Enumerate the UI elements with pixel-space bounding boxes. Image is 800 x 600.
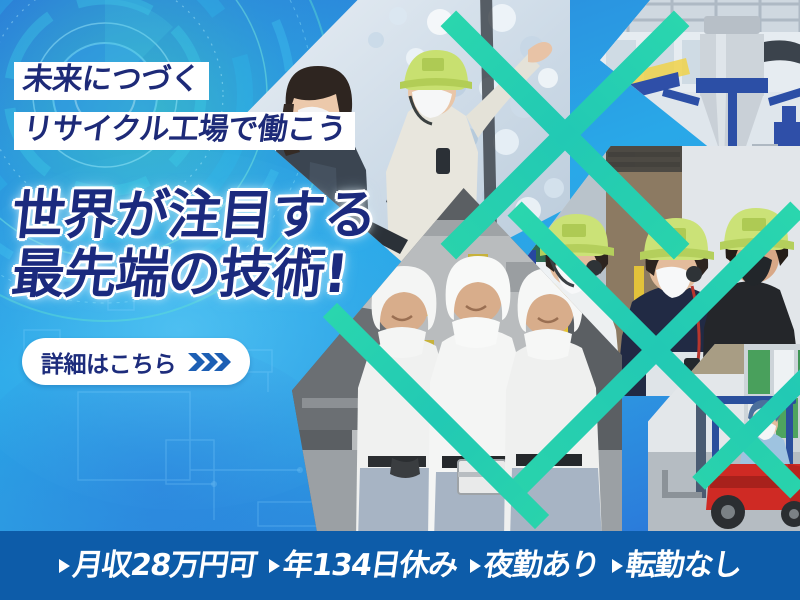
triangle-right-icon	[59, 559, 70, 573]
benefit-item-1: 月収28万円可	[59, 551, 256, 581]
details-cta-button[interactable]: 詳細はこちら	[22, 338, 250, 385]
details-cta-label: 詳細はこちら	[41, 345, 176, 379]
triangle-right-icon	[470, 559, 481, 573]
benefit-item-2: 年134日休み	[269, 551, 457, 581]
benefit-item-3: 夜勤あり	[470, 551, 599, 581]
kicker-line-2-text: リサイクル工場で働こう	[21, 114, 348, 146]
kicker-line-1-text: 未来につづく	[21, 64, 202, 96]
kicker-line-2: リサイクル工場で働こう	[14, 112, 355, 150]
triangle-right-icon	[269, 559, 280, 573]
triple-chevron-right-icon	[187, 351, 231, 373]
benefit-label-1: 月収28万円可	[70, 551, 258, 581]
benefit-label-4: 転勤なし	[624, 551, 743, 581]
headline-line-2: 最先端の技術!	[9, 245, 405, 304]
benefit-label-3: 夜勤あり	[482, 551, 601, 581]
kicker-line-1: 未来につづく	[14, 62, 209, 100]
recruitment-banner: 未来につづく リサイクル工場で働こう 世界が注目する 最先端の技術! 詳細はこち…	[0, 0, 800, 600]
triangle-right-icon	[612, 559, 623, 573]
benefits-bar: 月収28万円可 年134日休み 夜勤あり 転勤なし	[0, 531, 800, 600]
page-title: 世界が注目する 最先端の技術!	[12, 186, 402, 305]
benefit-item-4: 転勤なし	[612, 551, 741, 581]
headline-line-1: 世界が注目する	[9, 186, 405, 245]
benefit-label-2: 年134日休み	[281, 551, 459, 581]
